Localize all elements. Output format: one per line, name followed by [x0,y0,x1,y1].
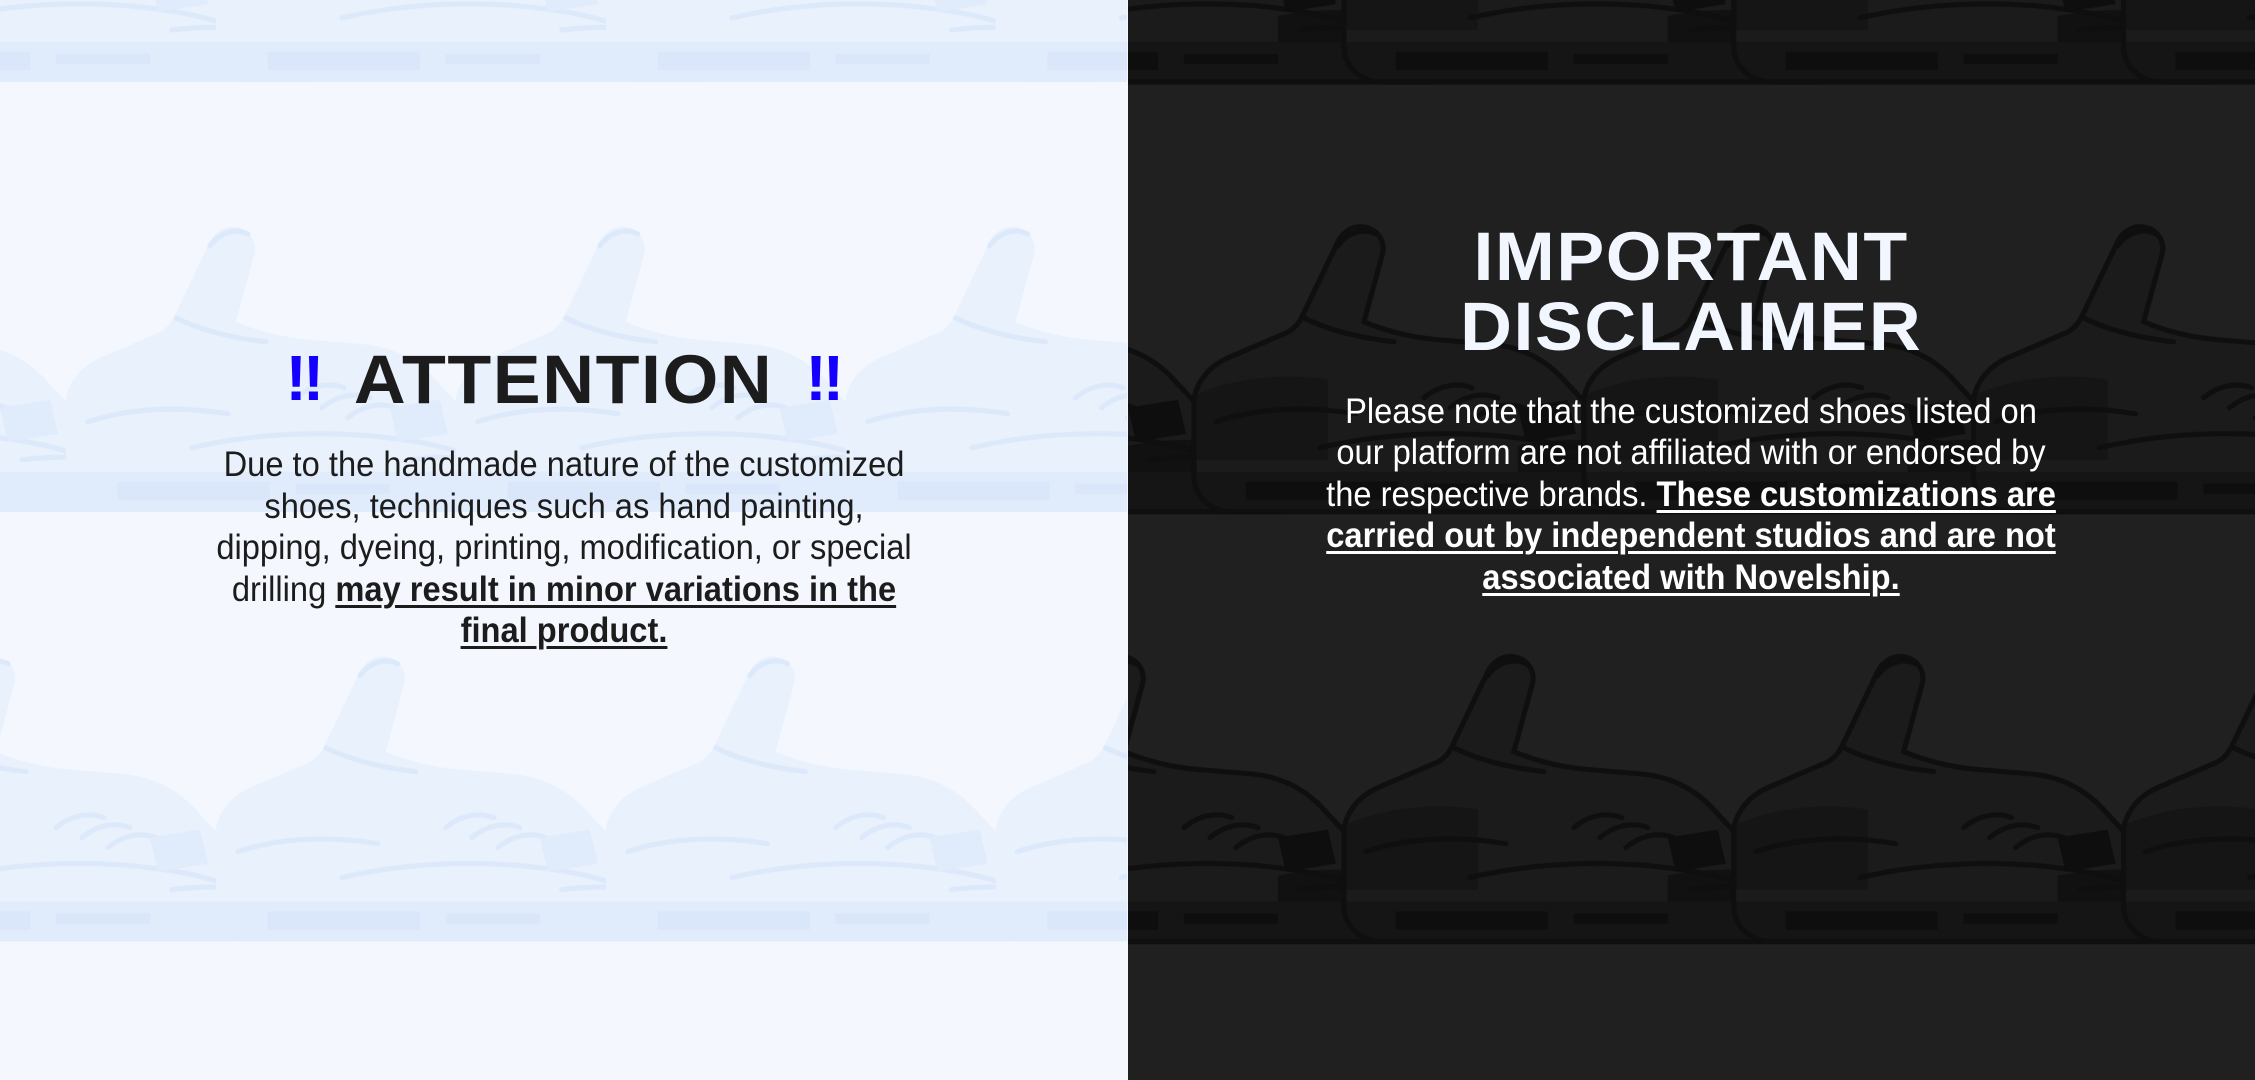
double-exclamation-right-icon: ‼ [805,346,842,410]
disclaimer-panel: IMPORTANT DISCLAIMER Please note that th… [1128,0,2255,1080]
disclaimer-heading-line-1: IMPORTANT [1474,218,1909,295]
disclaimer-body: Please note that the customized shoes li… [1323,391,2059,599]
attention-panel: ‼ ATTENTION ‼ Due to the handmade nature… [0,0,1128,1080]
attention-heading: ATTENTION [354,345,773,414]
disclaimer-banner: ‼ ATTENTION ‼ Due to the handmade nature… [0,0,2255,1080]
disclaimer-heading-line-2: DISCLAIMER [1460,288,1922,365]
double-exclamation-left-icon: ‼ [286,346,323,410]
attention-body: Due to the handmade nature of the custom… [214,444,913,652]
disclaimer-heading: IMPORTANT DISCLAIMER [1460,222,1922,363]
attention-heading-row: ‼ ATTENTION ‼ [286,345,843,414]
attention-body-emphasis: may result in minor variations in the fi… [335,569,896,651]
